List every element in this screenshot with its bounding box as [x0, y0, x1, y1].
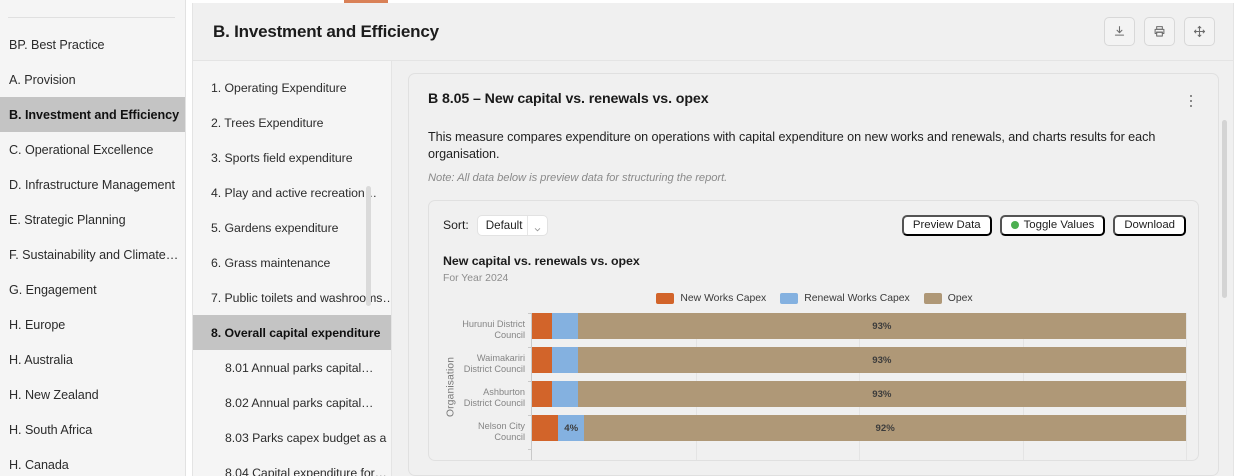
sidebar-item-label: F. Sustainability and Climate… — [9, 248, 178, 262]
sidebar-item-label: G. Engagement — [9, 283, 97, 297]
chart-download-button[interactable]: Download — [1113, 215, 1186, 236]
sidebar-item[interactable]: H. Europe — [0, 307, 185, 342]
secondary-nav-item-label: 2. Trees Expenditure — [211, 116, 323, 130]
page-title: B. Investment and Efficiency — [213, 22, 439, 42]
legend-swatch-icon — [780, 293, 798, 304]
category-label: Hurunui District Council — [462, 319, 525, 341]
content-scrollbar[interactable] — [1222, 117, 1227, 476]
card-region: B 8.05 – New capital vs. renewals vs. op… — [392, 61, 1233, 476]
status-dot-icon — [1011, 221, 1019, 229]
body-split: 1. Operating Expenditure2. Trees Expendi… — [193, 61, 1233, 476]
measure-card: B 8.05 – New capital vs. renewals vs. op… — [408, 73, 1219, 476]
secondary-nav-item-label: 5. Gardens expenditure — [211, 221, 338, 235]
secondary-sidebar: 1. Operating Expenditure2. Trees Expendi… — [193, 61, 392, 476]
category-label: Waimakariri District Council — [464, 353, 525, 375]
sidebar-item-label: H. Australia — [9, 353, 73, 367]
bar-value-label: 4% — [564, 423, 578, 434]
primary-sidebar: BP. Best PracticeA. ProvisionB. Investme… — [0, 0, 186, 476]
sidebar-item[interactable]: B. Investment and Efficiency — [0, 97, 185, 132]
secondary-nav-item-label: 3. Sports field expenditure — [211, 151, 353, 165]
bar-value-label: 93% — [872, 389, 891, 400]
sidebar-item-label: BP. Best Practice — [9, 38, 105, 52]
main-pane: B. Investment and Efficiency — [186, 0, 1242, 476]
legend-item[interactable]: New Works Capex — [656, 293, 766, 304]
secondary-nav-item-label: 7. Public toilets and washrooms… — [211, 291, 392, 305]
sidebar-item-label: H. Canada — [9, 458, 69, 472]
sidebar-item[interactable]: G. Engagement — [0, 272, 185, 307]
sidebar-item[interactable]: C. Operational Excellence — [0, 132, 185, 167]
bar-value-label: 92% — [876, 423, 895, 434]
chart-legend: New Works CapexRenewal Works CapexOpex — [443, 293, 1186, 304]
print-button[interactable] — [1144, 17, 1175, 46]
sidebar-item[interactable]: H. Canada — [0, 447, 185, 476]
secondary-nav-item[interactable]: 8. Overall capital expenditure — [193, 315, 391, 350]
preview-data-label: Preview Data — [913, 219, 981, 231]
category-labels: Hurunui District CouncilWaimakariri Dist… — [459, 313, 531, 461]
chart-toolbar: Sort: Default — [443, 212, 1186, 238]
legend-swatch-icon — [924, 293, 942, 304]
more-options-icon[interactable] — [1183, 91, 1199, 111]
header-actions — [1104, 17, 1215, 46]
secondary-nav-item-label: 8. Overall capital expenditure — [211, 326, 380, 340]
measure-header: B 8.05 – New capital vs. renewals vs. op… — [428, 91, 1199, 111]
chart-header: New capital vs. renewals vs. opex For Ye… — [443, 254, 1186, 284]
sidebar-item[interactable]: H. Australia — [0, 342, 185, 377]
chart-bar-row: 93% — [532, 381, 1186, 407]
secondary-nav-item[interactable]: 5. Gardens expenditure — [193, 210, 391, 245]
app-root: BP. Best PracticeA. ProvisionB. Investme… — [0, 0, 1242, 476]
chart-bar-segment[interactable] — [532, 347, 552, 373]
sidebar-item-label: H. New Zealand — [9, 388, 99, 402]
sidebar-item-label: B. Investment and Efficiency — [9, 108, 179, 122]
secondary-nav-item-label: 8.03 Parks capex budget as a … — [225, 431, 392, 445]
chart-gridline — [1186, 313, 1187, 461]
secondary-nav-item[interactable]: 7. Public toilets and washrooms… — [193, 280, 391, 315]
sidebar-scrollbar-thumb[interactable] — [366, 186, 371, 306]
category-label: Nelson City Council — [478, 421, 525, 443]
plot-area: 93%93%93%4%92% — [531, 313, 1186, 461]
secondary-nav-item[interactable]: 4. Play and active recreation… — [193, 175, 391, 210]
chart-bar-segment[interactable]: 93% — [578, 347, 1186, 373]
secondary-nav-item-label: 1. Operating Expenditure — [211, 81, 347, 95]
sidebar-item-label: E. Strategic Planning — [9, 213, 126, 227]
chart-bar-segment[interactable]: 92% — [584, 415, 1186, 441]
sort-select-value: Default — [486, 219, 523, 232]
bar-value-label: 93% — [872, 321, 891, 332]
sidebar-item[interactable]: BP. Best Practice — [0, 27, 185, 62]
chart-bar-segment[interactable]: 93% — [578, 313, 1186, 339]
chevron-down-icon — [533, 221, 542, 230]
measure-note: Note: All data below is preview data for… — [428, 172, 1199, 184]
chart-bar-row: 93% — [532, 347, 1186, 373]
chart-subtitle: For Year 2024 — [443, 273, 1186, 284]
sidebar-item[interactable]: D. Infrastructure Management — [0, 167, 185, 202]
toggle-values-label: Toggle Values — [1024, 219, 1095, 231]
download-icon — [1113, 25, 1126, 38]
chart-bar-segment[interactable] — [532, 381, 552, 407]
chart-bar-segment[interactable]: 4% — [558, 415, 584, 441]
legend-label: Opex — [948, 293, 973, 304]
chart-bar-segment[interactable] — [552, 313, 578, 339]
secondary-nav-item[interactable]: 8.02 Annual parks capital… — [193, 385, 391, 420]
chart-bar-row: 93% — [532, 313, 1186, 339]
secondary-nav-item[interactable]: 2. Trees Expenditure — [193, 105, 391, 140]
sidebar-item[interactable]: A. Provision — [0, 62, 185, 97]
secondary-nav-item[interactable]: 8.03 Parks capex budget as a … — [193, 420, 391, 455]
chart-download-label: Download — [1124, 219, 1175, 231]
secondary-nav-item-label: 8.04 Capital expenditure for… — [225, 466, 387, 476]
legend-label: New Works Capex — [680, 293, 766, 304]
sidebar-item[interactable]: E. Strategic Planning — [0, 202, 185, 237]
bar-value-label: 93% — [872, 355, 891, 366]
page-header: B. Investment and Efficiency — [193, 3, 1233, 61]
secondary-nav-list: 1. Operating Expenditure2. Trees Expendi… — [193, 70, 391, 476]
legend-item[interactable]: Opex — [924, 293, 973, 304]
y-axis-title: Organisation — [443, 313, 459, 461]
category-label: Ashburton District Council — [464, 387, 525, 409]
print-icon — [1153, 25, 1166, 38]
secondary-nav-item-label: 6. Grass maintenance — [211, 256, 330, 270]
sidebar-item[interactable]: H. South Africa — [0, 412, 185, 447]
secondary-nav-item[interactable]: 3. Sports field expenditure — [193, 140, 391, 175]
sort-select-divider — [527, 216, 528, 235]
chart-bar-segment[interactable] — [532, 313, 552, 339]
toggle-values-button[interactable]: Toggle Values — [1000, 215, 1106, 236]
chart-panel: Sort: Default — [428, 200, 1199, 461]
secondary-nav-item[interactable]: 6. Grass maintenance — [193, 245, 391, 280]
legend-item[interactable]: Renewal Works Capex — [780, 293, 910, 304]
preview-data-button[interactable]: Preview Data — [902, 215, 992, 236]
chart-toolbar-actions: Preview Data Toggle Values Download — [902, 215, 1186, 236]
secondary-nav-item[interactable]: 8.04 Capital expenditure for… — [193, 455, 391, 476]
sidebar-item-label: H. South Africa — [9, 423, 92, 437]
chart-bar-row: 4%92% — [532, 415, 1186, 441]
active-tab-indicator — [344, 0, 388, 3]
primary-nav-list: BP. Best PracticeA. ProvisionB. Investme… — [0, 0, 185, 476]
expand-icon — [1193, 25, 1206, 38]
measure-description: This measure compares expenditure on ope… — [428, 129, 1199, 163]
chart-bar-segment[interactable]: 93% — [578, 381, 1186, 407]
chart-title: New capital vs. renewals vs. opex — [443, 254, 1186, 268]
legend-label: Renewal Works Capex — [804, 293, 910, 304]
content-scrollbar-thumb[interactable] — [1222, 120, 1227, 298]
sidebar-item-label: A. Provision — [9, 73, 76, 87]
sidebar-item-label: H. Europe — [9, 318, 65, 332]
expand-button[interactable] — [1184, 17, 1215, 46]
measure-title: B 8.05 – New capital vs. renewals vs. op… — [428, 91, 709, 107]
sidebar-item[interactable]: H. New Zealand — [0, 377, 185, 412]
secondary-nav-item[interactable]: 8.01 Annual parks capital… — [193, 350, 391, 385]
chart-bar-segment[interactable] — [552, 347, 578, 373]
secondary-nav-item-label: 8.02 Annual parks capital… — [225, 396, 373, 410]
content-frame: B. Investment and Efficiency — [192, 3, 1234, 476]
sidebar-item-label: C. Operational Excellence — [9, 143, 153, 157]
axis-tick — [528, 449, 532, 450]
sort-select[interactable]: Default — [477, 215, 549, 236]
chart-bar-segment[interactable] — [532, 415, 558, 441]
secondary-nav-item-label: 4. Play and active recreation… — [211, 186, 377, 200]
chart-plot-wrapper: Organisation Hurunui District CouncilWai… — [443, 313, 1186, 461]
sidebar-item[interactable]: F. Sustainability and Climate… — [0, 237, 185, 272]
legend-swatch-icon — [656, 293, 674, 304]
sidebar-divider — [8, 17, 175, 18]
sidebar-item-label: D. Infrastructure Management — [9, 178, 175, 192]
secondary-nav-item[interactable]: 1. Operating Expenditure — [193, 70, 391, 105]
chart-bar-segment[interactable] — [552, 381, 578, 407]
sort-label: Sort: — [443, 218, 469, 232]
secondary-nav-item-label: 8.01 Annual parks capital… — [225, 361, 373, 375]
download-button[interactable] — [1104, 17, 1135, 46]
